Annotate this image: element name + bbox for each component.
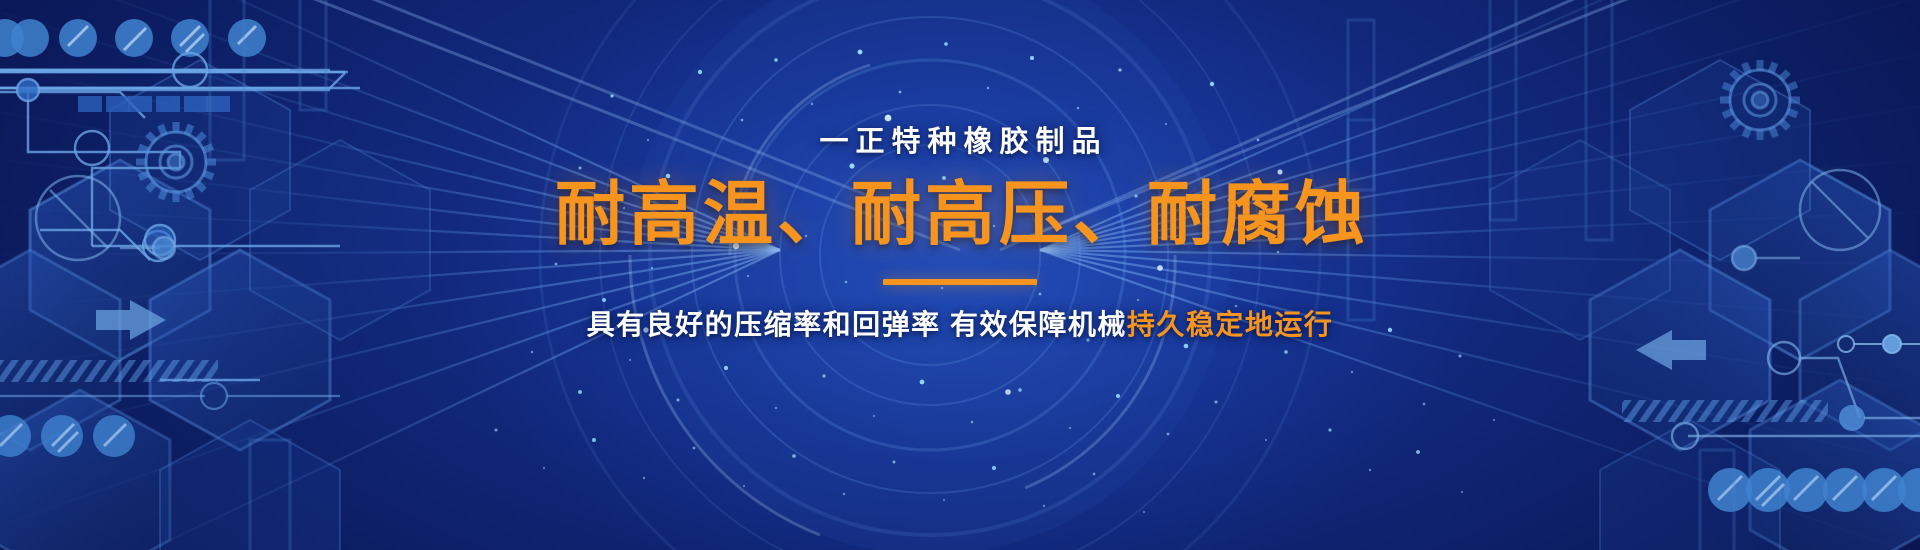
banner-subtitle-primary: 具有良好的压缩率和回弹率 有效保障机械 (587, 309, 1127, 340)
hatched-bar-right-icon (1622, 400, 1828, 422)
banner-eyebrow: 一正特种橡胶制品 (0, 128, 1920, 157)
striped-circle-row-bottom-icon (0, 415, 135, 457)
striped-circle-row-icon (0, 19, 266, 57)
banner-content: 一正特种橡胶制品 耐高温、耐高压、耐腐蚀 具有良好的压缩率和回弹率 有效保障机械… (0, 128, 1920, 339)
banner-subtitle-highlight: 持久稳定地运行 (1127, 309, 1334, 340)
panel-blocks-icon (78, 96, 230, 112)
hatched-bar-icon (0, 360, 218, 382)
divider-rule (883, 279, 1037, 285)
striped-circle-row-right-icon (1708, 468, 1920, 512)
hero-banner: 一正特种橡胶制品 耐高温、耐高压、耐腐蚀 具有良好的压缩率和回弹率 有效保障机械… (0, 0, 1920, 550)
banner-headline: 耐高温、耐高压、耐腐蚀 (0, 179, 1920, 249)
banner-subtitle: 具有良好的压缩率和回弹率 有效保障机械持久稳定地运行 (0, 311, 1920, 339)
